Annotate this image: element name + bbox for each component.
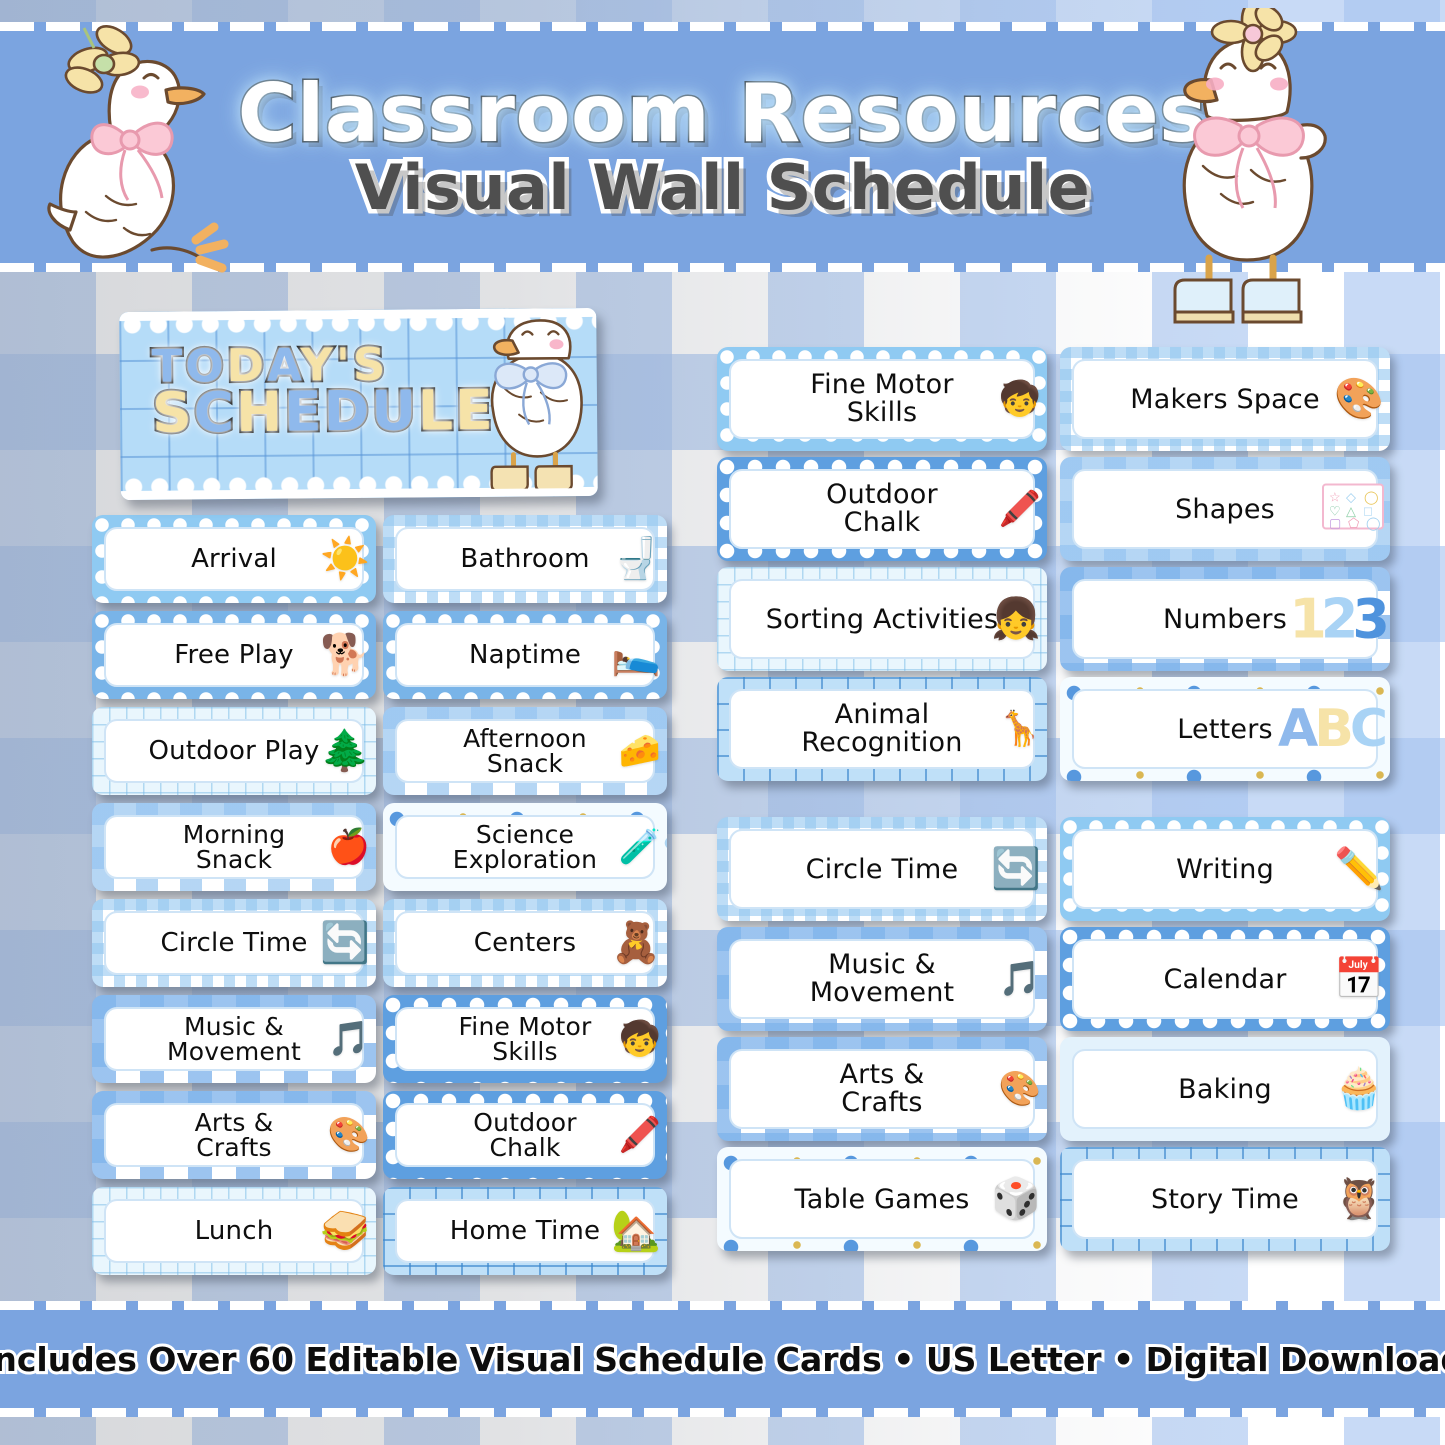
todays-schedule-line2: SCHEDULE — [152, 385, 452, 439]
schedule-card[interactable]: Makers Space 🎨 — [1060, 347, 1390, 451]
card-inner: Free Play — [104, 623, 364, 687]
card-label: Calendar — [1157, 966, 1292, 993]
card-inner: Arts & Crafts — [104, 1103, 364, 1167]
goose-left-icon — [28, 12, 258, 302]
schedule-card[interactable]: Lunch 🥪 — [92, 1187, 376, 1275]
schedule-card[interactable]: Science Exploration 🧪 — [383, 803, 667, 891]
schedule-card[interactable]: Afternoon Snack 🧀 — [383, 707, 667, 795]
card-inner: Story Time — [1072, 1159, 1378, 1239]
schedule-card[interactable]: Baking 🧁 — [1060, 1037, 1390, 1141]
card-label: Bathroom — [454, 546, 595, 572]
card-inner: Shapes — [1072, 469, 1378, 549]
card-label: Naptime — [463, 642, 587, 668]
card-inner: Home Time — [395, 1199, 655, 1263]
card-inner: Afternoon Snack — [395, 719, 655, 783]
card-inner: Sorting Activities — [729, 579, 1035, 659]
card-inner: Table Games — [729, 1159, 1035, 1239]
card-inner: Naptime — [395, 623, 655, 687]
card-inner: Letters — [1072, 689, 1378, 769]
card-label: Afternoon Snack — [457, 726, 593, 777]
schedule-card[interactable]: Morning Snack 🍎 — [92, 803, 376, 891]
card-label: Music & Movement — [804, 951, 961, 1006]
page-title: Classroom Resources — [238, 75, 1208, 153]
schedule-card[interactable]: Numbers 123 — [1060, 567, 1390, 671]
card-label: Writing — [1170, 856, 1280, 883]
card-inner: Baking — [1072, 1049, 1378, 1129]
card-label: Centers — [468, 930, 582, 956]
todays-schedule-header-card: TODAY'S SCHEDULE — [119, 308, 598, 500]
card-inner: Music & Movement — [104, 1007, 364, 1071]
schedule-card[interactable]: Naptime 🛌 — [383, 611, 667, 699]
card-label: Fine Motor Skills — [804, 371, 959, 426]
schedule-card[interactable]: Arts & Crafts 🎨 — [92, 1091, 376, 1179]
card-label: Circle Time — [800, 856, 965, 883]
card-inner: Outdoor Chalk — [395, 1103, 655, 1167]
todays-schedule-text: TODAY'S SCHEDULE — [151, 343, 452, 440]
card-inner: Music & Movement — [729, 939, 1035, 1019]
card-inner: Morning Snack — [104, 815, 364, 879]
schedule-card[interactable]: Sorting Activities 👧 — [717, 567, 1047, 671]
card-label: Morning Snack — [177, 822, 292, 873]
card-label: Arts & Crafts — [833, 1061, 930, 1116]
schedule-card[interactable]: Circle Time 🔄 — [92, 899, 376, 987]
card-inner: Centers — [395, 911, 655, 975]
card-label: Sorting Activities — [760, 606, 1004, 633]
goose-card-icon — [460, 318, 591, 489]
card-inner: Lunch — [104, 1199, 364, 1263]
card-label: Makers Space — [1124, 386, 1326, 413]
card-label: Outdoor Play — [142, 738, 325, 764]
schedule-card[interactable]: Animal Recognition 🦒 — [717, 677, 1047, 781]
card-inner: Arts & Crafts — [729, 1049, 1035, 1129]
card-label: Lunch — [189, 1218, 280, 1244]
schedule-card[interactable]: Fine Motor Skills 🧒 — [383, 995, 667, 1083]
schedule-card[interactable]: Circle Time 🔄 — [717, 817, 1047, 921]
card-label: Outdoor Chalk — [820, 481, 944, 536]
schedule-card[interactable]: Music & Movement 🎵 — [92, 995, 376, 1083]
schedule-card[interactable]: Music & Movement 🎵 — [717, 927, 1047, 1031]
schedule-card[interactable]: Shapes ☆ ◇ ◯ ♡ △ □ ▢ ⬠ ◯ — [1060, 457, 1390, 561]
card-label: Shapes — [1169, 496, 1281, 523]
schedule-card[interactable]: Bathroom 🚽 — [383, 515, 667, 603]
card-inner: Numbers — [1072, 579, 1378, 659]
schedule-card[interactable]: Outdoor Chalk 🖍️ — [717, 457, 1047, 561]
card-inner: Science Exploration — [395, 815, 655, 879]
schedule-card[interactable]: Calendar 📅 — [1060, 927, 1390, 1031]
footer-banner: Includes Over 60 Editable Visual Schedul… — [0, 1301, 1445, 1417]
schedule-card[interactable]: Writing ✏️ — [1060, 817, 1390, 921]
schedule-card[interactable]: Free Play 🐕 — [92, 611, 376, 699]
schedule-card[interactable]: Letters ABC — [1060, 677, 1390, 781]
card-inner: Arrival — [104, 527, 364, 591]
card-inner: Circle Time — [104, 911, 364, 975]
card-label: Animal Recognition — [795, 701, 968, 756]
card-label: Home Time — [444, 1218, 606, 1244]
card-inner: Makers Space — [1072, 359, 1378, 439]
card-label: Music & Movement — [161, 1014, 307, 1065]
card-label: Arts & Crafts — [189, 1110, 280, 1161]
schedule-card[interactable]: Fine Motor Skills 🧒 — [717, 347, 1047, 451]
goose-right-icon — [1145, 8, 1355, 328]
schedule-card[interactable]: Outdoor Chalk 🖍️ — [383, 1091, 667, 1179]
card-inner: Bathroom — [395, 527, 655, 591]
card-inner: Outdoor Chalk — [729, 469, 1035, 549]
card-label: Table Games — [788, 1186, 975, 1213]
footer-text: Includes Over 60 Editable Visual Schedul… — [0, 1340, 1445, 1379]
card-inner: Animal Recognition — [729, 689, 1035, 769]
card-inner: Writing — [1072, 829, 1378, 909]
card-label: Baking — [1172, 1076, 1278, 1103]
card-label: Fine Motor Skills — [453, 1014, 598, 1065]
card-label: Circle Time — [154, 930, 313, 956]
card-label: Free Play — [168, 642, 299, 668]
card-inner: Fine Motor Skills — [395, 1007, 655, 1071]
card-label: Outdoor Chalk — [467, 1110, 582, 1161]
schedule-card[interactable]: Centers 🧸 — [383, 899, 667, 987]
card-inner: Outdoor Play — [104, 719, 364, 783]
card-inner: Circle Time — [729, 829, 1035, 909]
card-label: Arrival — [185, 546, 283, 572]
card-label: Letters — [1171, 716, 1279, 743]
card-label: Story Time — [1145, 1186, 1305, 1213]
schedule-card[interactable]: Home Time 🏡 — [383, 1187, 667, 1275]
schedule-card[interactable]: Arrival ☀️ — [92, 515, 376, 603]
card-label: Science Exploration — [447, 822, 603, 873]
card-inner: Fine Motor Skills — [729, 359, 1035, 439]
schedule-card[interactable]: Story Time 🦉 — [1060, 1147, 1390, 1251]
card-inner: Calendar — [1072, 939, 1378, 1019]
schedule-card[interactable]: Table Games 🎲 — [717, 1147, 1047, 1251]
page-subtitle: Visual Wall Schedule — [355, 156, 1090, 219]
schedule-card[interactable]: Outdoor Play 🌲 — [92, 707, 376, 795]
schedule-card[interactable]: Arts & Crafts 🎨 — [717, 1037, 1047, 1141]
card-label: Numbers — [1157, 606, 1293, 633]
